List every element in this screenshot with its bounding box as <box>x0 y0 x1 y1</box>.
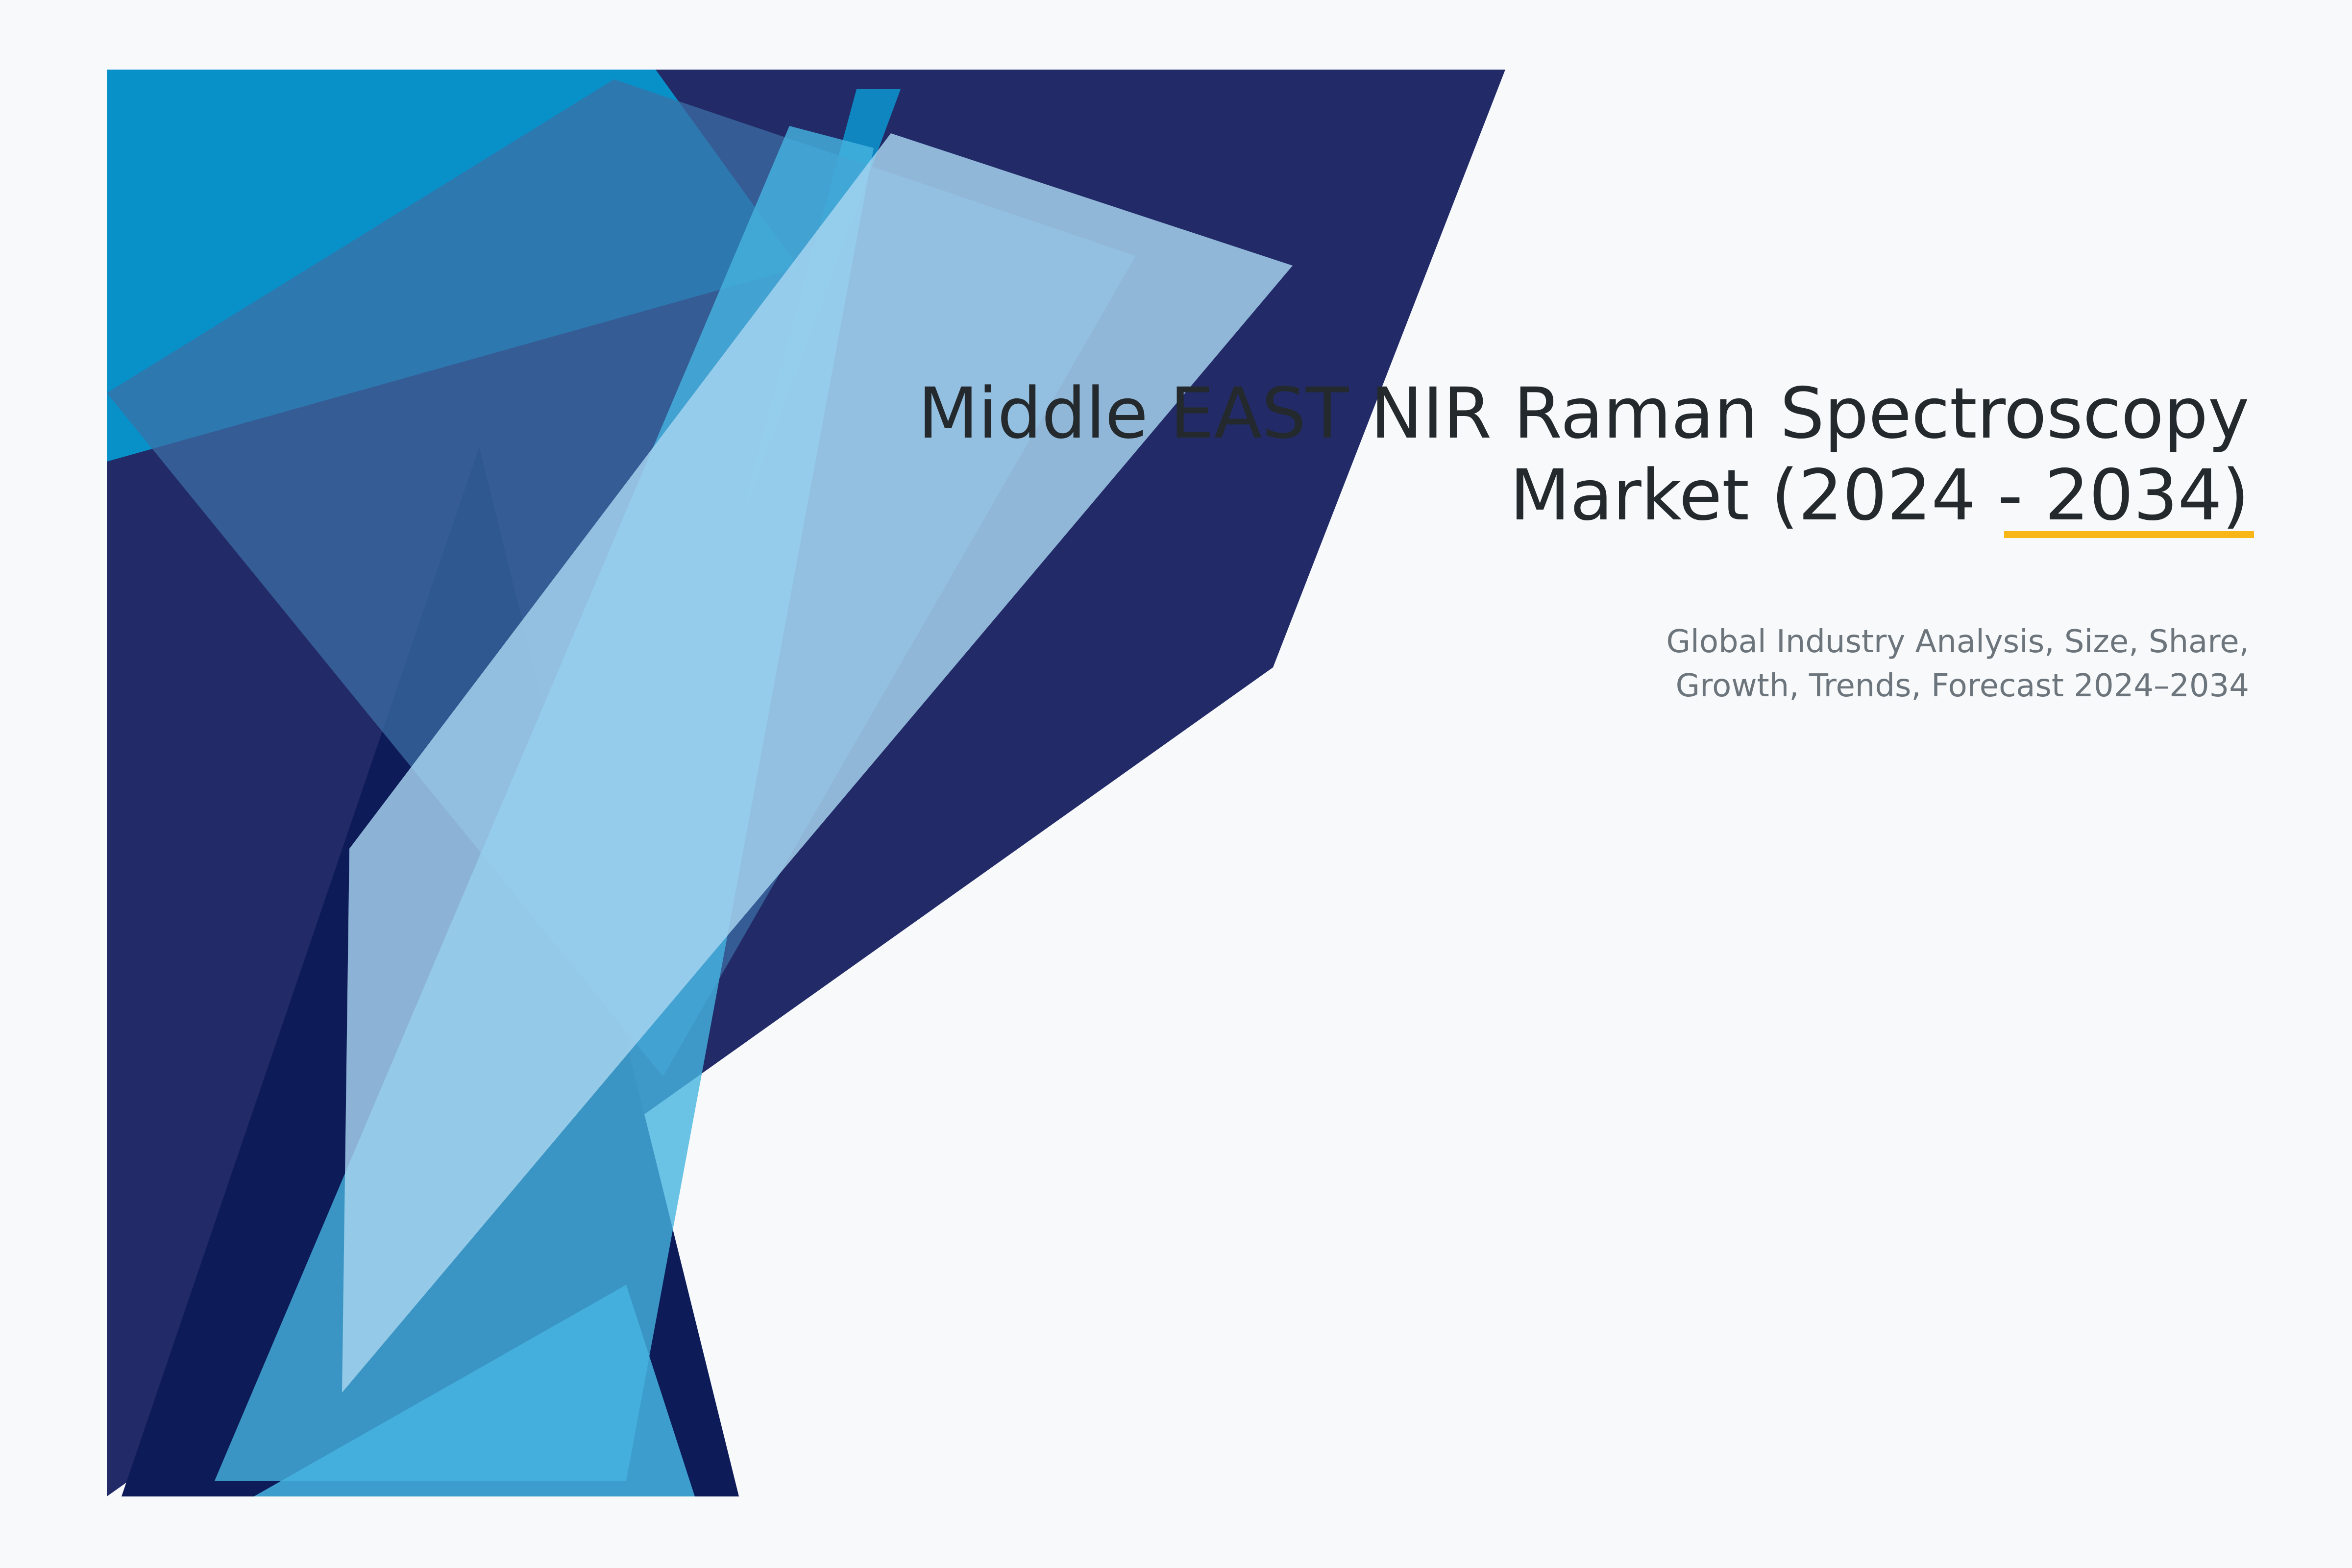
cover-text-block: Middle EAST NIR Raman Spectroscopy Marke… <box>735 372 2249 709</box>
abstract-geometric-cover-graphic <box>107 70 1508 1496</box>
report-cover-page: Middle EAST NIR Raman Spectroscopy Marke… <box>0 0 2352 1568</box>
page-subtitle: Global Industry Analysis, Size, Share, G… <box>735 620 2249 709</box>
page-title: Middle EAST NIR Raman Spectroscopy Marke… <box>735 372 2249 537</box>
title-wrapper: Middle EAST NIR Raman Spectroscopy Marke… <box>735 372 2249 537</box>
